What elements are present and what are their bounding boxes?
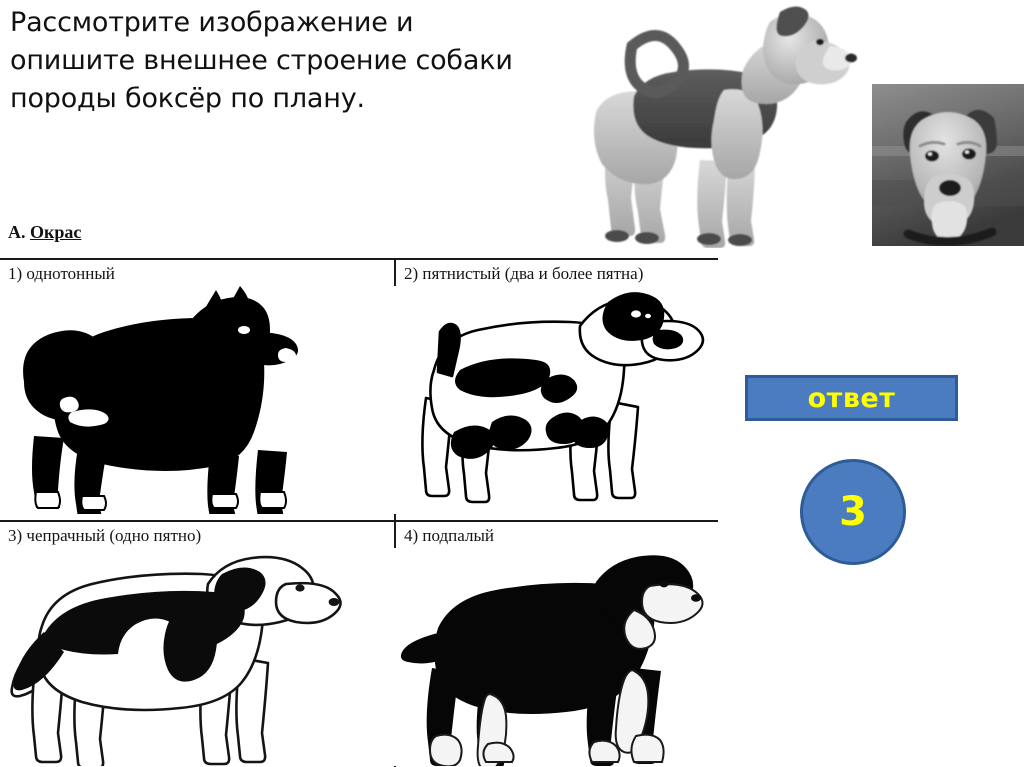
- dog-head-photo: [872, 84, 1024, 246]
- answer-button-label: ответ: [808, 383, 896, 414]
- dog-full-body-photo: [574, 0, 874, 248]
- option-cell-4[interactable]: 4) подпалый: [396, 520, 718, 767]
- option-label-1: 1) однотонный: [8, 264, 115, 284]
- answer-value-badge: 3: [800, 459, 906, 565]
- solid-black-dog-icon: [0, 286, 394, 520]
- answer-value: 3: [839, 489, 867, 535]
- section-heading: А. Окрас: [8, 222, 81, 243]
- slide-canvas: Рассмотрите изображение и опишите внешне…: [0, 0, 1024, 767]
- option-label-4: 4) подпалый: [404, 526, 494, 546]
- option-label-2: 2) пятнистый (два и более пятна): [404, 264, 643, 284]
- saddle-dog-icon: [0, 548, 394, 767]
- section-prefix: А.: [8, 222, 26, 242]
- option-cell-3[interactable]: 3) чепрачный (одно пятно): [0, 520, 396, 767]
- option-cell-2[interactable]: 2) пятнистый (два и более пятна): [396, 260, 718, 520]
- option-label-3: 3) чепрачный (одно пятно): [8, 526, 201, 546]
- color-pattern-grid: 1) однотонный: [0, 258, 718, 767]
- answer-button[interactable]: ответ: [745, 375, 958, 421]
- spotted-dog-icon: [396, 286, 718, 520]
- option-cell-1[interactable]: 1) однотонный: [0, 260, 396, 520]
- section-title: Окрас: [30, 222, 81, 242]
- page-title: Рассмотрите изображение и опишите внешне…: [10, 4, 570, 118]
- tan-pointed-dog-icon: [396, 548, 718, 767]
